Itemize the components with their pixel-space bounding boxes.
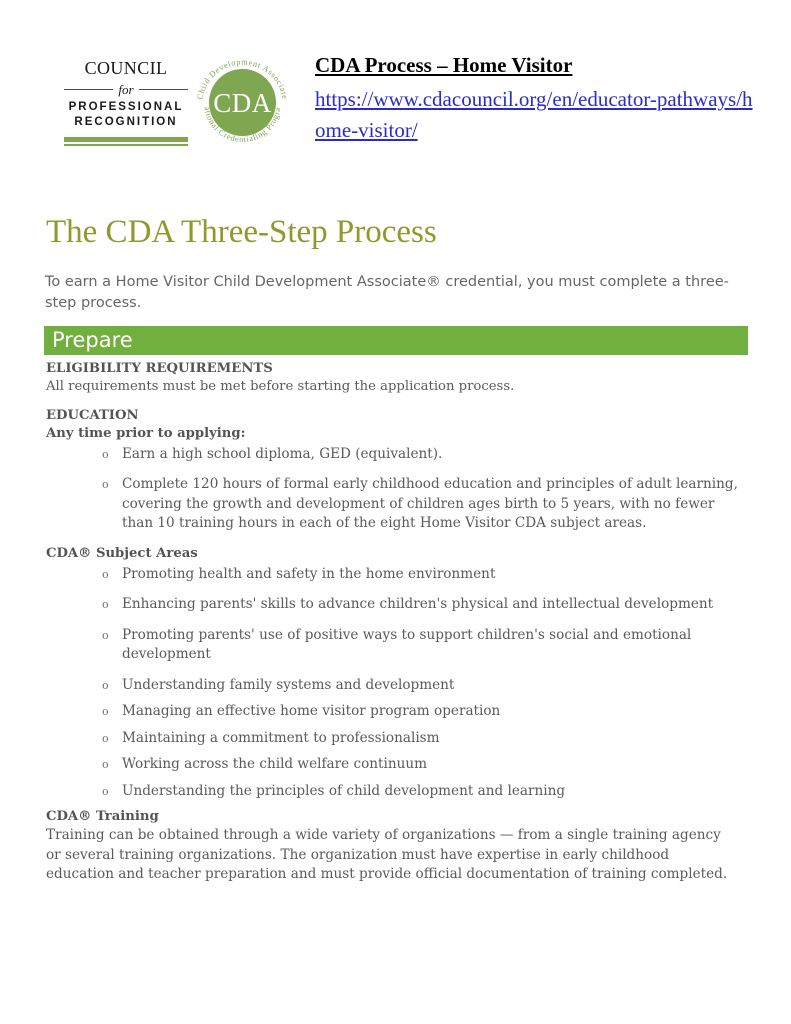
prepare-section-content: ELIGIBILITY REQUIREMENTS All requirement… [46,360,746,885]
bullet-marker: o [102,445,109,465]
council-logo-word: Council [64,54,188,80]
rule-right [139,89,188,90]
council-logo-for: for [118,83,133,96]
list-item-label: Managing an effective home visitor progr… [122,703,500,719]
council-logo-line1: PROFESSIONAL [64,100,188,115]
header-text-block: CDA Process – Home Visitor https://www.c… [315,52,755,146]
list-item-label: Maintaining a commitment to professional… [122,730,440,746]
list-item: o Maintaining a commitment to profession… [46,729,746,749]
list-item: o Complete 120 hours of formal early chi… [46,475,746,534]
eligibility-requirements-heading: ELIGIBILITY REQUIREMENTS [46,360,746,378]
education-requirements-list: o Earn a high school diploma, GED (equiv… [46,445,746,534]
bullet-marker: o [102,676,109,696]
eligibility-requirements-text: All requirements must be met before star… [46,378,746,397]
list-item-label: Working across the child welfare continu… [122,756,427,772]
council-logo-for-row: for [64,83,188,96]
cda-seal-icon: Child Development Associate National Cre… [190,50,295,155]
list-item-label: Enhancing parents' skills to advance chi… [122,596,713,612]
bullet-marker: o [102,595,109,615]
bullet-marker: o [102,475,109,495]
spacer [46,397,746,407]
cda-training-heading: CDA® Training [46,808,746,826]
list-item-label: Promoting parents' use of positive ways … [122,627,691,663]
svg-text:CDA: CDA [213,88,272,118]
bullet-marker: o [102,565,109,585]
list-item: o Earn a high school diploma, GED (equiv… [46,445,746,465]
bullet-marker: o [102,729,109,749]
council-logo: Council for PROFESSIONAL RECOGNITION [64,54,188,146]
cda-seal-logo: Child Development Associate National Cre… [190,50,295,155]
list-item: o Understanding the principles of child … [46,782,746,802]
education-subheading: Any time prior to applying: [46,425,746,443]
bullet-marker: o [102,626,109,646]
council-logo-line2: RECOGNITION [64,115,188,130]
list-item-label: Earn a high school diploma, GED (equival… [122,446,442,462]
education-heading: EDUCATION [46,407,746,425]
list-item-label: Understanding family systems and develop… [122,677,454,693]
list-item-label: Promoting health and safety in the home … [122,566,495,582]
list-item-label: Understanding the principles of child de… [122,783,565,799]
prepare-banner-label: Prepare [52,327,133,354]
bullet-marker: o [102,782,109,802]
page-title: The CDA Three-Step Process [46,212,437,252]
list-item: o Understanding family systems and devel… [46,676,746,696]
cda-training-text: Training can be obtained through a wide … [46,826,736,885]
cda-subject-areas-list: o Promoting health and safety in the hom… [46,565,746,802]
document-header: Council for PROFESSIONAL RECOGNITION Chi… [0,0,791,185]
rule-left [64,89,113,90]
bullet-marker: o [102,702,109,722]
subject-areas-heading: CDA® Subject Areas [46,545,746,563]
intro-paragraph: To earn a Home Visitor Child Development… [45,272,735,314]
prepare-section-banner: Prepare [44,326,748,355]
list-item: o Working across the child welfare conti… [46,755,746,775]
logo-bar-thick [64,137,188,142]
logo-bar-thin [64,144,188,146]
list-item: o Promoting parents' use of positive way… [46,626,746,665]
list-item: o Managing an effective home visitor pro… [46,702,746,722]
list-item: o Enhancing parents' skills to advance c… [46,595,746,615]
list-item: o Promoting health and safety in the hom… [46,565,746,585]
bullet-marker: o [102,755,109,775]
list-item-label: Complete 120 hours of formal early child… [122,476,738,531]
document-title: CDA Process – Home Visitor [315,52,755,78]
council-logo-bars [64,137,188,146]
cdacouncil-url-link[interactable]: https://www.cdacouncil.org/en/educator-p… [315,84,755,146]
